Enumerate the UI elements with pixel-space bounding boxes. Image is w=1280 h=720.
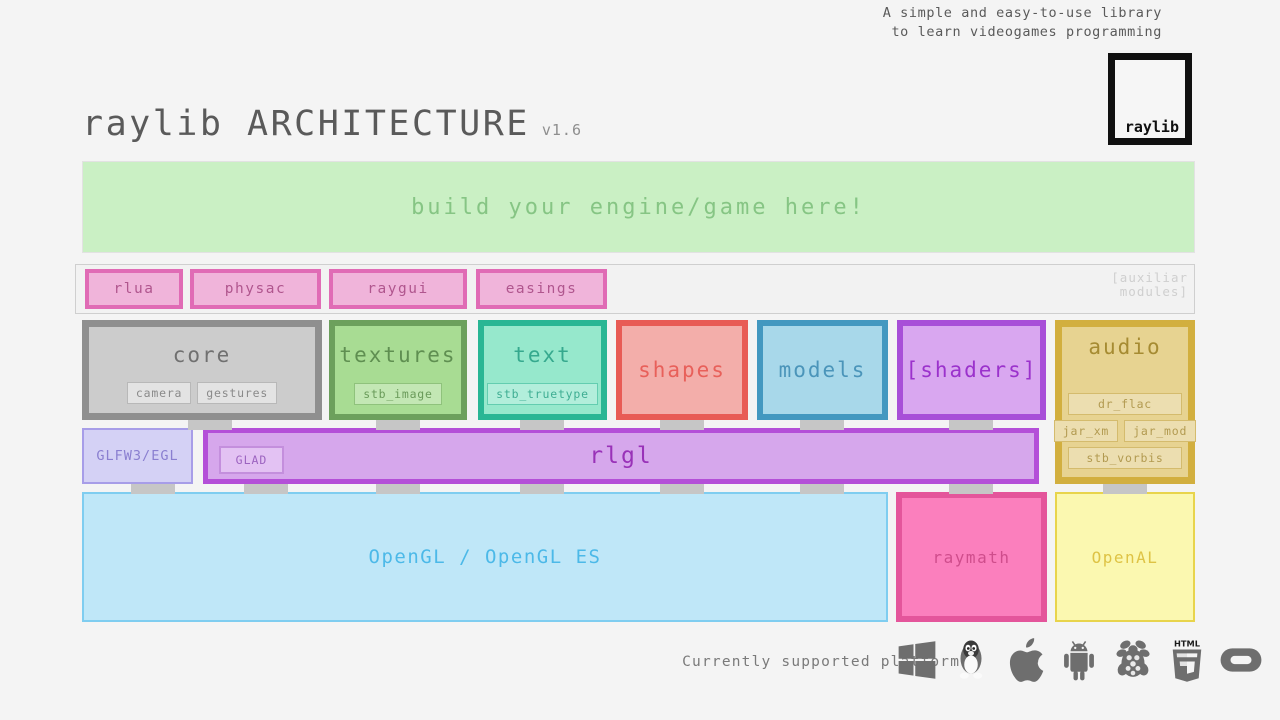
title-wrap: raylib ARCHITECTURE v1.6 [82,104,582,144]
tagline: A simple and easy-to-use library to lear… [883,4,1162,42]
raylib-logo-text: raylib [1125,118,1179,136]
sublib-stb_image: stb_image [354,383,442,405]
connector-tab [244,484,288,494]
module-title: core [173,343,232,367]
sublib-stb_truetype: stb_truetype [487,383,598,405]
linux-tux-icon [950,636,992,684]
raspberry-pi-icon [1112,636,1154,684]
connector-tab [660,420,704,430]
connector-tab [949,420,993,430]
connector-tab [520,420,564,430]
sublib-gestures: gestures [197,382,277,404]
version-label: v1.6 [542,121,582,139]
build-here-banner: build your engine/game here! [82,161,1195,253]
oculus-icon [1220,636,1262,684]
page-title: raylib ARCHITECTURE [82,104,530,144]
module-title: models [779,358,867,382]
module-text[interactable]: textstb_truetype [478,320,607,420]
windows-icon [896,636,938,684]
module-title: [shaders] [906,358,1038,382]
auxiliar-modules-note: [auxiliar modules] [1111,271,1188,299]
sublib-camera: camera [127,382,191,404]
module-opengl[interactable]: OpenGL / OpenGL ES [82,492,888,622]
connector-tab [376,484,420,494]
build-here-label: build your engine/game here! [411,195,866,220]
connector-tab [520,484,564,494]
sublib-stb_vorbis: stb_vorbis [1068,447,1182,469]
module-rlgl[interactable]: GLAD rlgl [203,428,1039,484]
module-shapes[interactable]: shapes [616,320,748,420]
auxiliar-note-line-1: [auxiliar [1111,271,1188,285]
html5-icon: HTML [1166,636,1208,684]
aux-module-physac[interactable]: physac [190,269,321,309]
auxiliar-note-line-2: modules] [1111,285,1188,299]
sublib-dr_flac: dr_flac [1068,393,1182,415]
raymath-label: raymath [933,548,1011,567]
tagline-line-1: A simple and easy-to-use library [883,4,1162,23]
raylib-logo: raylib [1108,53,1192,145]
architecture-diagram: raylib ARCHITECTURE v1.6 A simple and ea… [0,0,1280,720]
module-raymath[interactable]: raymath [896,492,1047,622]
module-shaders[interactable]: [shaders] [897,320,1046,420]
module-openal[interactable]: OpenAL [1055,492,1195,622]
sublib-jar_xm: jar_xm [1054,420,1118,442]
tagline-line-2: to learn videogames programming [883,23,1162,42]
module-glad[interactable]: GLAD [219,446,284,474]
module-title: shapes [638,358,726,382]
android-icon [1058,636,1100,684]
aux-module-label: raygui [367,281,428,297]
connector-tab [800,484,844,494]
glfw3-egl-label: GLFW3/EGL [96,448,178,464]
module-glfw3-egl[interactable]: GLFW3/EGL [82,428,193,484]
module-core[interactable]: corecameragestures [82,320,322,420]
connector-tab [376,420,420,430]
aux-module-rlua[interactable]: rlua [85,269,183,309]
connector-tab [131,484,175,494]
header: raylib ARCHITECTURE v1.6 [82,104,1197,154]
module-models[interactable]: models [757,320,888,420]
connector-tab [188,420,232,430]
aux-module-raygui[interactable]: raygui [329,269,467,309]
module-title: text [513,343,572,367]
module-audio[interactable]: audiodr_flacjar_xmjar_modstb_vorbis [1055,320,1195,484]
sublib-jar_mod: jar_mod [1124,420,1196,442]
connector-tab [800,420,844,430]
module-title: textures [339,343,456,367]
rlgl-label: rlgl [589,443,652,469]
module-title: audio [1088,335,1161,359]
openal-label: OpenAL [1092,548,1159,567]
connector-tab [949,484,993,494]
aux-module-label: rlua [114,281,155,297]
aux-module-easings[interactable]: easings [476,269,607,309]
connector-tab [1103,484,1147,494]
connector-tab [660,484,704,494]
aux-module-label: physac [225,281,286,297]
svg-text:HTML: HTML [1174,639,1201,649]
module-textures[interactable]: texturesstb_image [329,320,467,420]
platform-icons: HTML [896,636,1262,684]
apple-icon [1004,636,1046,684]
opengl-label: OpenGL / OpenGL ES [369,546,602,568]
aux-module-label: easings [506,281,578,297]
